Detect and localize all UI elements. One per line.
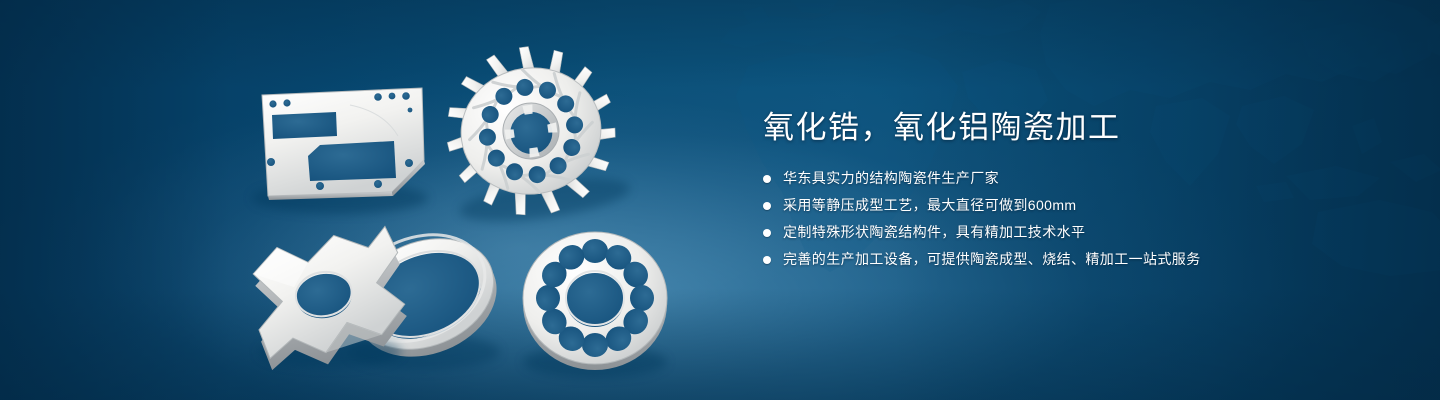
ceramic-perforated-disc (523, 232, 667, 378)
list-item: 采用等静压成型工艺，最大直径可做到600mm (763, 195, 1323, 216)
feature-text: 完善的生产加工设备，可提供陶瓷成型、烧结、精加工一站式服务 (783, 249, 1201, 270)
bullet-dot-icon (763, 229, 771, 237)
ceramic-mounting-plate (252, 88, 428, 214)
bullet-dot-icon (763, 202, 771, 210)
feature-text: 采用等静压成型工艺，最大直径可做到600mm (783, 195, 1076, 216)
bullet-dot-icon (763, 256, 771, 264)
banner-text-block: 氧化锆，氧化铝陶瓷加工 华东具实力的结构陶瓷件生产厂家 采用等静压成型工艺，最大… (763, 108, 1323, 276)
banner-headline: 氧化锆，氧化铝陶瓷加工 (763, 108, 1323, 148)
list-item: 华东具实力的结构陶瓷件生产厂家 (763, 168, 1323, 189)
list-item: 定制特殊形状陶瓷结构件，具有精加工技术水平 (763, 222, 1323, 243)
hero-banner: 氧化锆，氧化铝陶瓷加工 华东具实力的结构陶瓷件生产厂家 采用等静压成型工艺，最大… (0, 0, 1440, 400)
bullet-dot-icon (763, 175, 771, 183)
product-photo-group (0, 0, 720, 400)
banner-feature-list: 华东具实力的结构陶瓷件生产厂家 采用等静压成型工艺，最大直径可做到600mm 定… (763, 168, 1323, 270)
ceramic-cross-part (245, 225, 415, 375)
feature-text: 定制特殊形状陶瓷结构件，具有精加工技术水平 (783, 222, 1085, 243)
feature-text: 华东具实力的结构陶瓷件生产厂家 (783, 168, 999, 189)
ceramic-bladed-impeller (435, 35, 632, 230)
list-item: 完善的生产加工设备，可提供陶瓷成型、烧结、精加工一站式服务 (763, 249, 1323, 270)
